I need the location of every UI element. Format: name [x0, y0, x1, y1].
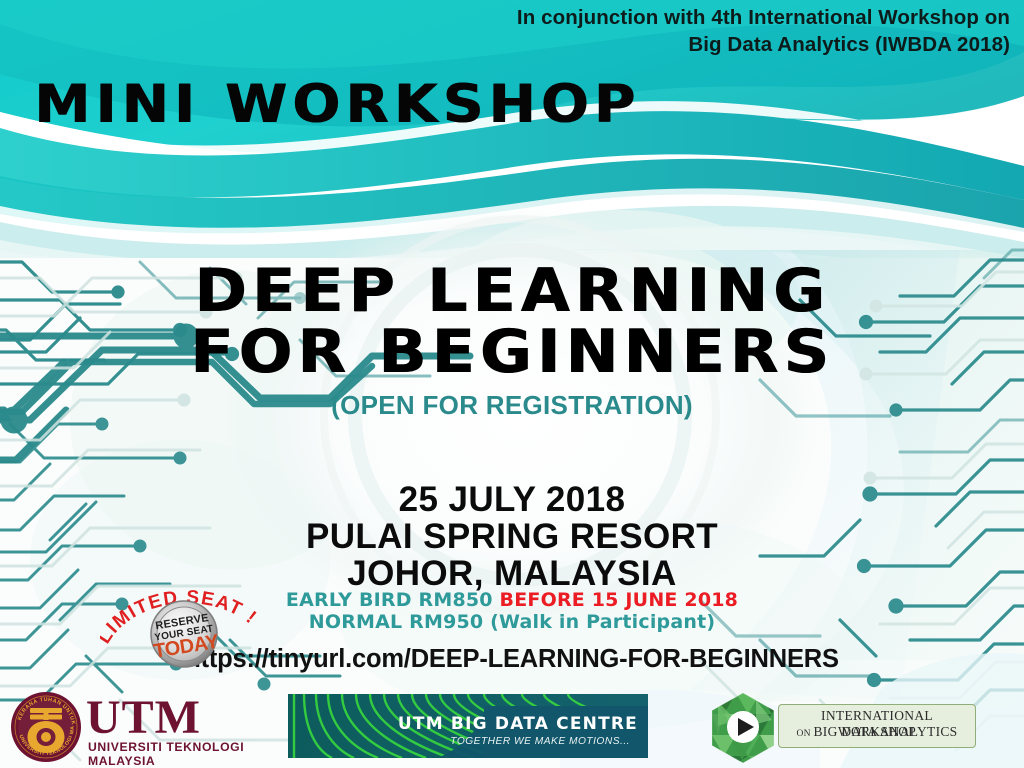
title-line-2: FOR BEGINNERS — [0, 323, 1024, 381]
logo-iwbda: INTERNATIONAL WORKSHOP ON BIG DATA ANALY… — [706, 690, 1006, 764]
utm-seal-icon: KERANA TUHAN UNTUK MANUSIA UNIVERSITI TE… — [8, 690, 84, 764]
conjunction-note: In conjunction with 4th International Wo… — [390, 4, 1010, 59]
logo-utm: KERANA TUHAN UNTUK MANUSIA UNIVERSITI TE… — [8, 690, 260, 764]
iwbda-line-2-prefix: ON — [797, 729, 814, 739]
event-venue: PULAI SPRING RESORT — [0, 518, 1024, 555]
title-line-1: DEEP LEARNING — [0, 262, 1024, 320]
banner-title: MINI WORKSHOP — [34, 78, 640, 131]
price-deadline: BEFORE 15 JUNE 2018 — [500, 589, 739, 611]
bdc-title: UTM BIG DATA CENTRE — [398, 714, 638, 734]
conjunction-line-1: In conjunction with 4th International Wo… — [390, 4, 1010, 31]
poster-canvas: In conjunction with 4th International Wo… — [0, 0, 1024, 768]
registration-status: (OPEN FOR REGISTRATION) — [0, 390, 1024, 421]
main-title-block: DEEP LEARNING FOR BEGINNERS (OPEN FOR RE… — [0, 262, 1024, 421]
logo-big-data-centre: UTM BIG DATA CENTRE TOGETHER WE MAKE MOT… — [288, 694, 648, 758]
event-date: 25 JULY 2018 — [0, 481, 1024, 518]
utm-subtitle: UNIVERSITI TEKNOLOGI MALAYSIA — [88, 740, 260, 768]
sponsor-logos: KERANA TUHAN UNTUK MANUSIA UNIVERSITI TE… — [0, 688, 1024, 768]
stamp-graphic: LIMITED SEAT !!! RESERVE YOUR SEAT TODAY — [100, 572, 268, 676]
bdc-tagline: TOGETHER WE MAKE MOTIONS... — [450, 736, 630, 747]
conjunction-line-2: Big Data Analytics (IWBDA 2018) — [390, 31, 1010, 58]
iwbda-line-2: ON BIG DATA ANALYTICS — [784, 724, 970, 740]
iwbda-hexagon-icon — [706, 690, 780, 764]
limited-seat-stamp: LIMITED SEAT !!! RESERVE YOUR SEAT TODAY — [100, 572, 268, 676]
utm-wordmark: UTM — [86, 694, 201, 742]
price-normal: NORMAL RM950 (Walk in Participant) — [309, 611, 716, 633]
price-early-bird: EARLY BIRD RM850 — [286, 589, 493, 611]
iwbda-line-2-main: BIG DATA ANALYTICS — [814, 724, 958, 739]
